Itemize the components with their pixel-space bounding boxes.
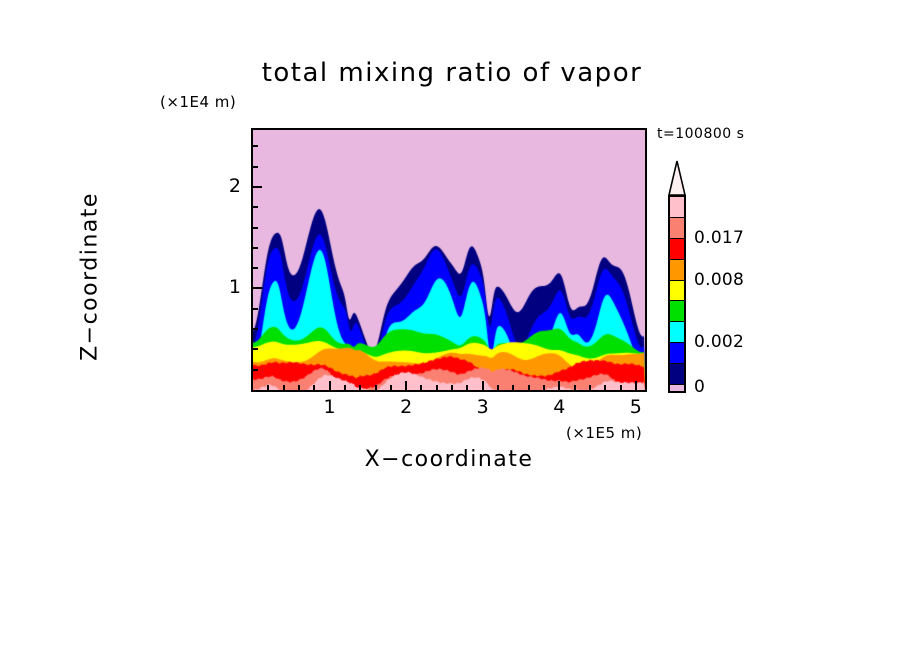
x-tick-major	[329, 381, 331, 390]
colorbar-tick-label: 0.017	[694, 228, 744, 248]
y-tick-minor	[253, 227, 258, 229]
colorbar-arrow-tip	[668, 160, 686, 196]
x-tick-minor	[298, 385, 300, 390]
colorbar-tick-label: 0.008	[694, 270, 744, 290]
colorbar	[668, 195, 686, 393]
x-tick-major	[635, 381, 637, 390]
x-tick-minor	[420, 385, 422, 390]
x-tick-minor	[375, 385, 377, 390]
colorbar-band-orchid	[670, 385, 684, 391]
x-tick-minor	[589, 385, 591, 390]
y-tick-label: 2	[201, 175, 241, 197]
x-tick-minor	[267, 385, 269, 390]
contour-field	[253, 130, 645, 390]
colorbar-band-light-pink	[670, 197, 684, 218]
x-tick-minor	[497, 385, 499, 390]
x-tick-minor	[528, 385, 530, 390]
x-tick-minor	[466, 385, 468, 390]
y-tick-minor	[253, 328, 258, 330]
y-tick-minor	[253, 247, 258, 249]
x-tick-minor	[313, 385, 315, 390]
colorbar-band-navy	[670, 364, 684, 385]
colorbar-band-yellow	[670, 281, 684, 302]
x-tick-minor	[620, 385, 622, 390]
colorbar-band-orange	[670, 260, 684, 281]
x-tick-minor	[283, 385, 285, 390]
x-tick-minor	[451, 385, 453, 390]
x-tick-label: 1	[310, 396, 350, 418]
colorbar-band-red	[670, 239, 684, 260]
x-tick-major	[558, 381, 560, 390]
y-tick-major	[253, 186, 262, 188]
y-tick-minor	[253, 348, 258, 350]
x-tick-minor	[543, 385, 545, 390]
y-tick-minor	[253, 145, 258, 147]
y-tick-minor	[253, 267, 258, 269]
y-axis-unit-label: (×1E4 m)	[160, 93, 236, 111]
contour-plot-area	[251, 128, 647, 392]
colorbar-band-cyan	[670, 322, 684, 343]
x-axis-title: X−coordinate	[251, 447, 647, 472]
x-tick-minor	[436, 385, 438, 390]
colorbar-band-salmon	[670, 218, 684, 239]
x-tick-label: 3	[463, 396, 503, 418]
time-stamp-label: t=100800 s	[657, 126, 744, 142]
y-tick-major	[253, 287, 262, 289]
y-axis-title: Z−coordinate	[78, 127, 103, 427]
colorbar-tick-label: 0.002	[694, 332, 744, 352]
y-tick-label: 1	[201, 276, 241, 298]
y-tick-minor	[253, 206, 258, 208]
y-tick-minor	[253, 166, 258, 168]
x-tick-minor	[512, 385, 514, 390]
y-tick-minor	[253, 308, 258, 310]
x-axis-unit-label: (×1E5 m)	[566, 424, 642, 442]
y-tick-minor	[253, 369, 258, 371]
x-tick-major	[482, 381, 484, 390]
x-tick-minor	[604, 385, 606, 390]
page-title: total mixing ratio of vapor	[0, 58, 904, 88]
x-tick-minor	[390, 385, 392, 390]
colorbar-band-blue	[670, 343, 684, 364]
x-tick-label: 5	[616, 396, 656, 418]
x-tick-major	[405, 381, 407, 390]
colorbar-tick-label: 0	[694, 377, 705, 397]
x-tick-minor	[344, 385, 346, 390]
x-tick-minor	[574, 385, 576, 390]
x-tick-label: 4	[539, 396, 579, 418]
x-tick-minor	[359, 385, 361, 390]
colorbar-band-green	[670, 301, 684, 322]
x-tick-label: 2	[386, 396, 426, 418]
